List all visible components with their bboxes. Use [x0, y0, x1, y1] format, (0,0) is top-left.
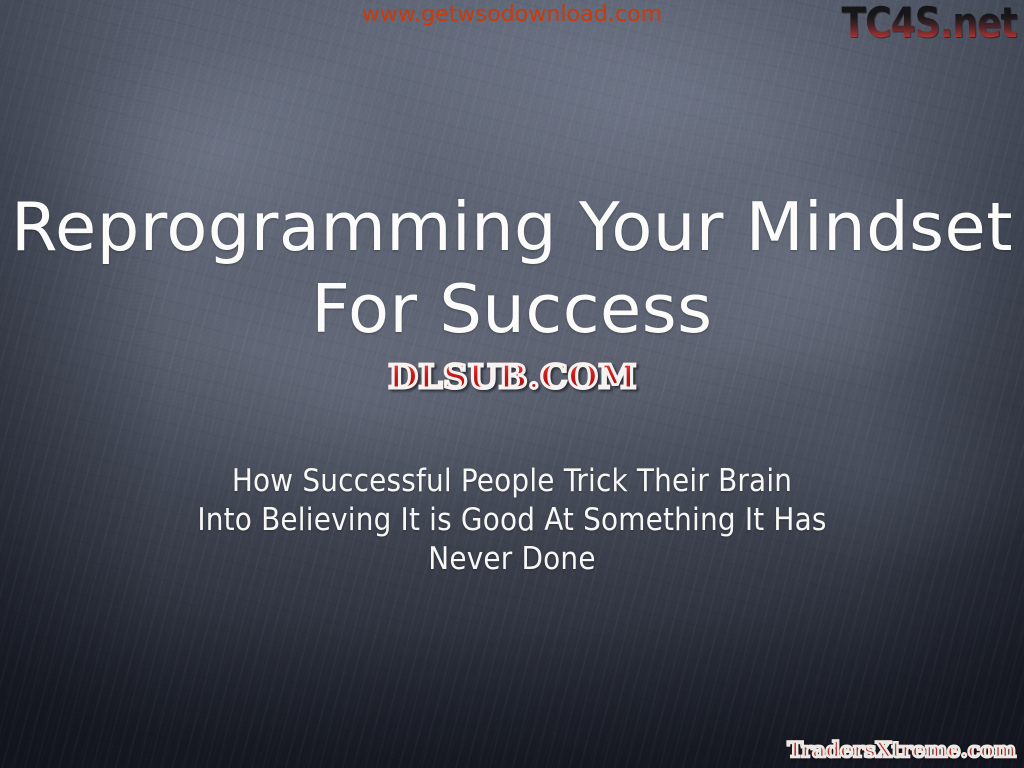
subtitle-line-1: How Successful People Trick Their Brain [0, 462, 1024, 501]
title-line-1: Reprogramming Your Mindset [0, 186, 1024, 268]
dlsub-com-logo-text: DLSUB.COM [388, 358, 637, 396]
tradersxtreme-com-logo-text: TradersXtreme.com [787, 738, 1016, 762]
subtitle-line-3: Never Done [0, 540, 1024, 579]
page-title: Reprogramming Your Mindset For Success [0, 186, 1024, 350]
subtitle-line-2: Into Believing It is Good At Something I… [0, 501, 1024, 540]
slide-canvas: www.getwsodownload.com TC4S.net Reprogra… [0, 0, 1024, 768]
page-subtitle: How Successful People Trick Their Brain … [0, 462, 1024, 579]
dlsub-com-watermark: DLSUB.COM [0, 358, 1024, 396]
tc4s-net-logo: TC4S.net [842, 1, 1017, 45]
tradersxtreme-com-watermark: TradersXtreme.com [787, 738, 1016, 762]
title-line-2: For Success [0, 268, 1024, 350]
